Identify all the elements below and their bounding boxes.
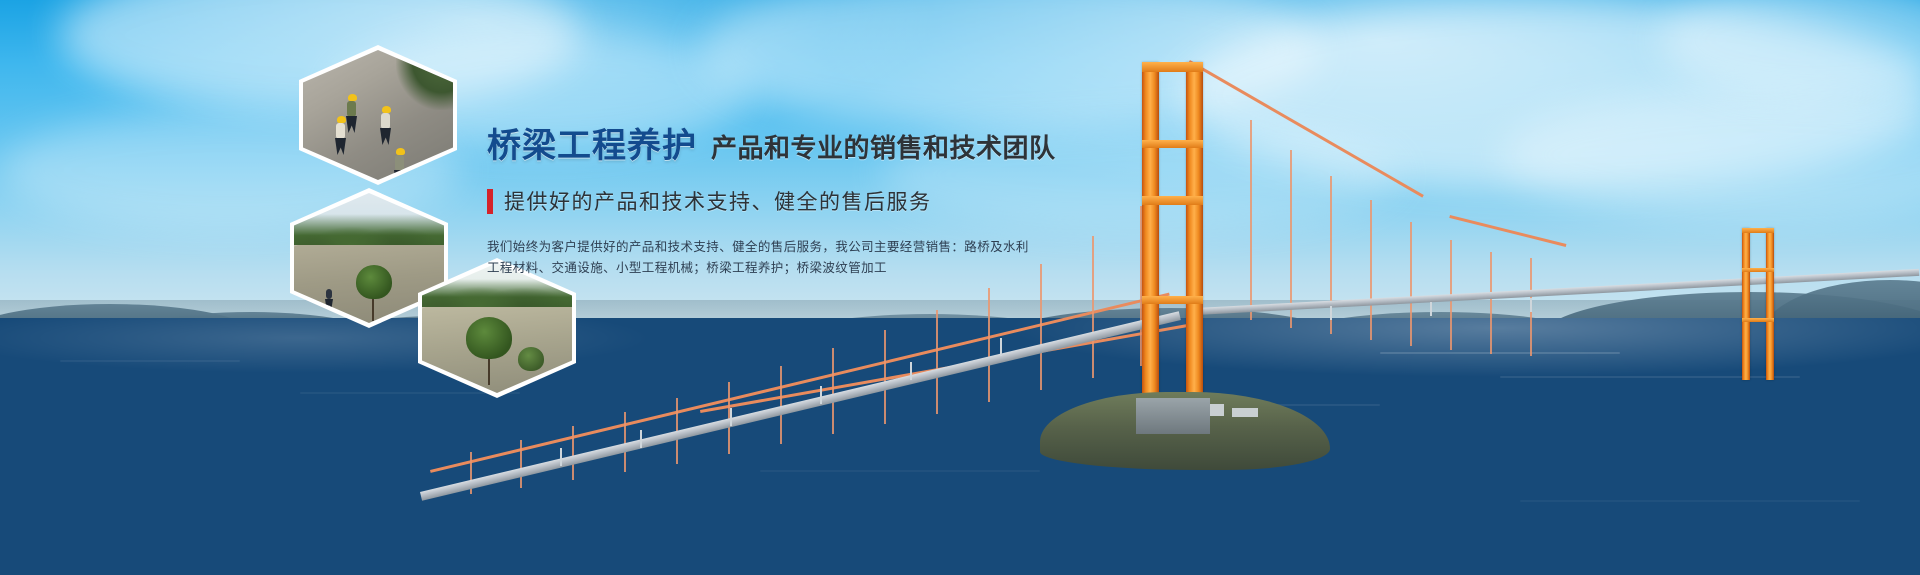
description: 我们始终为客户提供好的产品和技术支持、健全的售后服务，我公司主要经营销售：路桥及… bbox=[487, 237, 1107, 279]
hex-photo-slope-mesh-installation-workers[interactable] bbox=[299, 45, 457, 185]
description-line: 我们始终为客户提供好的产品和技术支持、健全的售后服务，我公司主要经营销售：路桥及… bbox=[487, 237, 1107, 258]
page-title: 桥梁工程养护 bbox=[487, 118, 697, 167]
hex-photo-slope-greening-net-vegetation[interactable] bbox=[418, 258, 576, 398]
banner-copy: 桥梁工程养护 产品和专业的销售和技术团队 提供好的产品和技术支持、健全的售后服务… bbox=[487, 118, 1107, 279]
description-line: 工程材料、交通设施、小型工程机械；桥梁工程养护；桥梁波纹管加工 bbox=[487, 258, 1107, 279]
accent-bar-icon bbox=[487, 189, 493, 214]
background-scene bbox=[0, 0, 1920, 575]
tagline-row: 提供好的产品和技术支持、健全的售后服务 bbox=[487, 186, 1107, 216]
headline-row: 桥梁工程养护 产品和专业的销售和技术团队 bbox=[487, 118, 1107, 167]
hero-banner: 桥梁工程养护 产品和专业的销售和技术团队 提供好的产品和技术支持、健全的售后服务… bbox=[0, 0, 1920, 575]
tagline: 提供好的产品和技术支持、健全的售后服务 bbox=[504, 186, 932, 216]
page-subtitle: 产品和专业的销售和技术团队 bbox=[711, 128, 1056, 165]
suspension-bridge bbox=[0, 0, 1920, 575]
